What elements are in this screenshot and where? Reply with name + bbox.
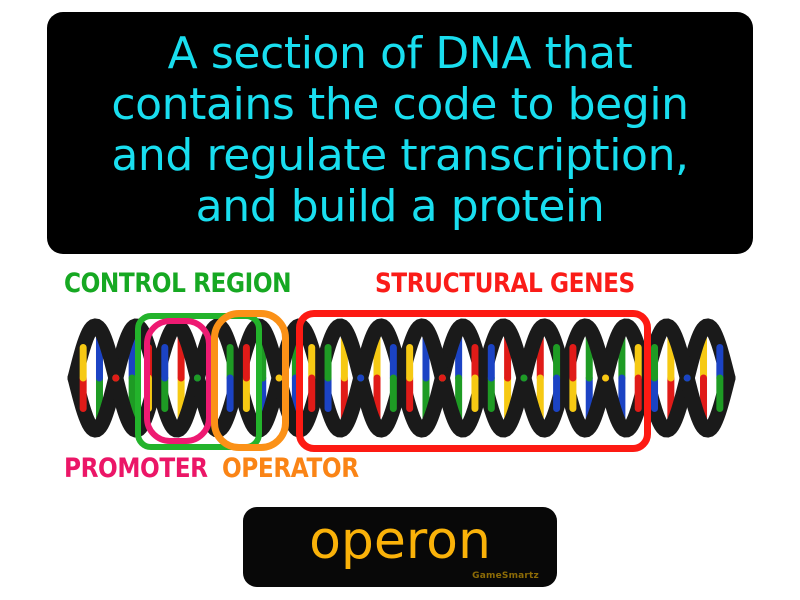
label-promoter: PROMOTER: [64, 455, 208, 482]
region-box-promoter: [144, 318, 212, 444]
operon-diagram: CONTROL REGION STRUCTURAL GENES PROMOTER…: [0, 258, 800, 500]
label-control-region: CONTROL REGION: [64, 270, 291, 297]
watermark: GameSmartz: [472, 571, 539, 581]
definition-text: A section of DNA that contains the code …: [111, 28, 688, 232]
label-operator: OPERATOR: [222, 455, 359, 482]
region-box-structural-genes: [296, 310, 651, 452]
term-label: operon: [243, 515, 557, 567]
term-card: operon GameSmartz: [243, 507, 557, 587]
label-structural-genes: STRUCTURAL GENES: [375, 270, 635, 297]
definition-card: A section of DNA that contains the code …: [47, 12, 753, 254]
region-box-operator: [211, 310, 289, 451]
